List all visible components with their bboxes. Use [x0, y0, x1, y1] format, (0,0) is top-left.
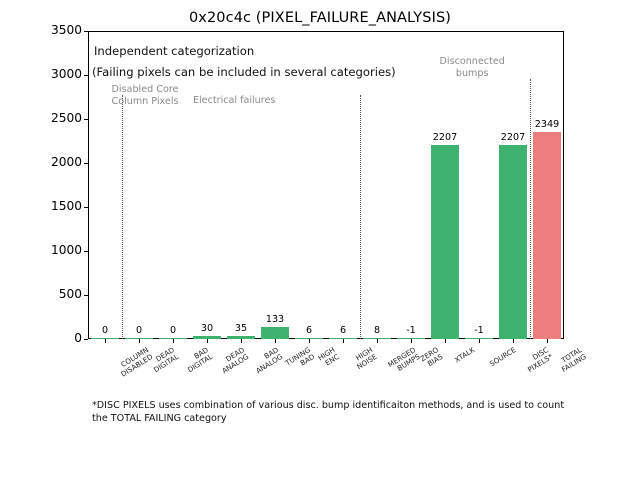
- bar-value-label: 0: [88, 325, 122, 336]
- bar-value-label: 2207: [428, 132, 462, 143]
- x-tick-mark: [547, 339, 548, 343]
- bar[interactable]: [91, 338, 118, 339]
- x-tick-label: DEADANALOG: [217, 346, 251, 376]
- x-tick-mark: [207, 339, 208, 343]
- y-tick-label: 500: [22, 287, 82, 301]
- bar-value-label: 30: [190, 323, 224, 334]
- x-tick-label: TOTALFAILING: [556, 346, 588, 374]
- x-tick-mark: [309, 339, 310, 343]
- x-tick-mark: [479, 339, 480, 343]
- y-tick-label: 1000: [22, 243, 82, 257]
- x-tick-mark: [173, 339, 174, 343]
- bar[interactable]: [499, 145, 526, 339]
- x-tick-mark: [411, 339, 412, 343]
- group-separator-line: [122, 95, 123, 339]
- bar-value-label: 0: [122, 325, 156, 336]
- bar[interactable]: [295, 338, 322, 339]
- bar-value-label: -1: [394, 325, 428, 336]
- y-tick-mark: [84, 339, 88, 340]
- bar-value-label: 0: [156, 325, 190, 336]
- chart-title: 0x20c4c (PIXEL_FAILURE_ANALYSIS): [0, 10, 640, 26]
- x-tick-mark: [105, 339, 106, 343]
- x-tick-mark: [343, 339, 344, 343]
- x-tick-mark: [445, 339, 446, 343]
- bar[interactable]: [227, 336, 254, 339]
- x-tick-label: MERGEDBUMPS: [387, 346, 422, 376]
- x-tick-label: SOURCE: [488, 346, 517, 368]
- y-tick-mark: [84, 251, 88, 252]
- y-tick-mark: [84, 119, 88, 120]
- y-tick-mark: [84, 31, 88, 32]
- y-tick-label: 1500: [22, 199, 82, 213]
- bar[interactable]: [397, 338, 424, 339]
- bar[interactable]: [193, 336, 220, 339]
- bar[interactable]: [125, 338, 152, 339]
- x-tick-mark: [139, 339, 140, 343]
- bar-value-label: 6: [292, 325, 326, 336]
- group-label-electrical-failures: Electrical failures: [169, 95, 299, 107]
- x-tick-label: HIGHNOISE: [351, 346, 378, 371]
- x-tick-mark: [241, 339, 242, 343]
- bar[interactable]: [431, 145, 458, 339]
- bar[interactable]: [465, 338, 492, 339]
- bar-value-label: 8: [360, 325, 394, 336]
- y-tick-label: 2500: [22, 111, 82, 125]
- bar-value-label: 2207: [496, 132, 530, 143]
- annotation-multiple-categories: (Failing pixels can be included in sever…: [92, 65, 396, 79]
- bar-value-label: -1: [462, 325, 496, 336]
- chart-figure: 0x20c4c (PIXEL_FAILURE_ANALYSIS) Number …: [0, 0, 640, 480]
- group-separator-line: [360, 95, 361, 339]
- chart-footnote: *DISC PIXELS uses combination of various…: [92, 400, 572, 426]
- bar-value-label: 133: [258, 314, 292, 325]
- y-tick-mark: [84, 207, 88, 208]
- bar[interactable]: [533, 132, 560, 339]
- x-tick-label: DISCPIXELS*: [522, 346, 554, 375]
- y-tick-label: 3500: [22, 23, 82, 37]
- y-tick-mark: [84, 163, 88, 164]
- bar[interactable]: [261, 327, 288, 339]
- bar[interactable]: [363, 338, 390, 339]
- y-tick-label: 3000: [22, 67, 82, 81]
- x-tick-label: BADDIGITAL: [182, 346, 214, 375]
- y-tick-label: 2000: [22, 155, 82, 169]
- x-tick-label: DEADDIGITAL: [148, 346, 180, 375]
- bar-value-label: 35: [224, 323, 258, 334]
- x-tick-label: HIGHENC: [317, 346, 341, 370]
- y-tick-mark: [84, 75, 88, 76]
- y-tick-label: 0: [22, 331, 82, 345]
- x-tick-mark: [275, 339, 276, 343]
- x-tick-mark: [377, 339, 378, 343]
- bar-value-label: 2349: [530, 119, 564, 130]
- group-separator-line: [530, 79, 531, 339]
- x-tick-label: XTALK: [453, 346, 476, 365]
- bar[interactable]: [329, 338, 356, 339]
- x-tick-label: TUNINGBAD: [284, 346, 316, 375]
- annotation-independent-categorization: Independent categorization: [94, 44, 254, 58]
- bar[interactable]: [159, 338, 186, 339]
- x-tick-mark: [513, 339, 514, 343]
- y-tick-mark: [84, 295, 88, 296]
- bar-value-label: 6: [326, 325, 360, 336]
- x-tick-label: BADANALOG: [251, 346, 285, 376]
- group-label-disconnected-bumps: Disconnected bumps: [417, 56, 527, 79]
- x-tick-label: ZEROBIAS: [419, 346, 444, 370]
